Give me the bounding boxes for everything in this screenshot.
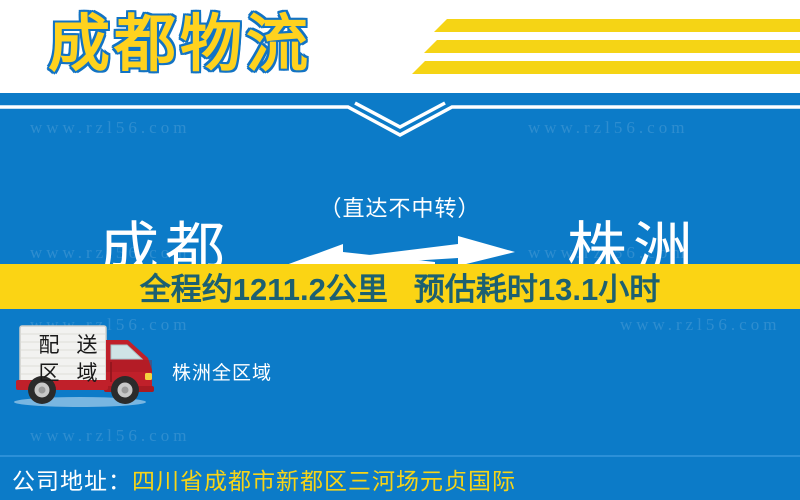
- decorative-stripe-2: [424, 40, 800, 53]
- banner-header: 成都物流: [0, 0, 800, 93]
- decorative-stripe-3: [412, 61, 800, 74]
- delivery-scope-text: 株洲全区域: [172, 358, 272, 385]
- decorative-stripe-1: [434, 19, 800, 32]
- total-distance-value: 全程约1211.2公里: [140, 272, 388, 307]
- delivery-truck-icon: 配 送 区 域: [8, 320, 163, 410]
- delivery-area-row: 配 送 区 域 株洲全区域: [0, 318, 800, 413]
- distance-and-time-text: 全程约1211.2公里预估耗时13.1小时: [140, 264, 660, 309]
- direct-shipping-note: （直达不中转）: [280, 191, 520, 223]
- chevron-divider: [0, 101, 800, 137]
- logistics-route-banner: 成都物流 www.rzl56.com www.rzl56.com www.rzl…: [0, 0, 800, 500]
- distance-band: 全程约1211.2公里预估耗时13.1小时: [0, 264, 800, 309]
- estimated-time-value: 预估耗时13.1小时: [414, 272, 660, 307]
- double-chevron-down-icon: [0, 101, 800, 137]
- company-address-bar: 公司地址： 四川省成都市新都区三河场元贞国际: [0, 455, 800, 500]
- main-blue-panel: www.rzl56.com www.rzl56.com www.rzl56.co…: [0, 93, 800, 500]
- address-label: 公司地址：: [12, 462, 132, 496]
- address-value: 四川省成都市新都区三河场元贞国际: [132, 462, 516, 496]
- watermark: www.rzl56.com: [30, 426, 190, 446]
- page-title: 成都物流: [48, 3, 312, 87]
